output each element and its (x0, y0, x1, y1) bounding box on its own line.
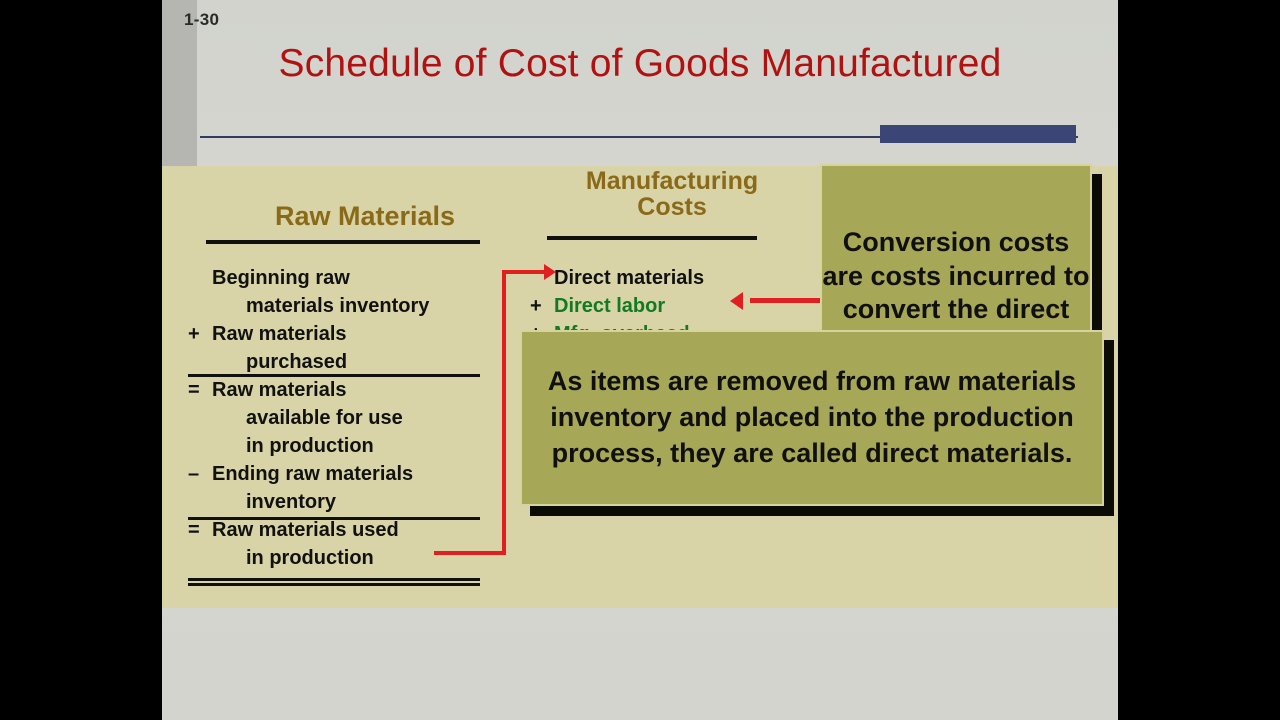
row-label: materials inventory (246, 292, 508, 320)
row-operator: + (188, 320, 208, 348)
list-item: in production (188, 544, 508, 572)
list-item: purchased (188, 348, 508, 376)
row-label: Direct materials (554, 264, 780, 292)
row-label: Direct labor (554, 292, 780, 320)
direct-materials-callout-text: As items are removed from raw materials … (522, 364, 1102, 472)
slide-canvas: 1-30 Schedule of Cost of Goods Manufactu… (162, 0, 1118, 720)
arrow-right-icon-segment-bottom (434, 551, 506, 555)
arrow-right-icon (544, 264, 556, 280)
manufacturing-costs-heading: Manufacturing Costs (537, 168, 807, 221)
list-item: available for use (188, 404, 508, 432)
list-item: Beginning raw (188, 264, 508, 292)
list-item: = Raw materials (188, 376, 508, 404)
raw-materials-list: Beginning raw materials inventory + Raw … (188, 264, 508, 572)
manufacturing-costs-heading-rule (547, 236, 757, 240)
arrow-right-icon-segment-top (502, 270, 547, 274)
list-item: in production (188, 432, 508, 460)
raw-materials-heading: Raw Materials (220, 202, 510, 230)
row-label: purchased (246, 348, 508, 376)
raw-materials-total-rule (188, 578, 480, 581)
list-item: Direct materials (530, 264, 780, 292)
row-label: in production (246, 432, 508, 460)
row-label: Raw materials used (212, 516, 508, 544)
manufacturing-costs-heading-line1: Manufacturing (537, 168, 807, 194)
row-operator: + (530, 292, 550, 320)
arrow-right-icon-segment-vertical (502, 270, 506, 555)
raw-materials-subtotal-rule-2 (188, 517, 480, 520)
list-item: inventory (188, 488, 508, 516)
arrow-left-icon (730, 292, 743, 310)
page-title: Schedule of Cost of Goods Manufactured (162, 42, 1118, 86)
row-operator: = (188, 376, 208, 404)
raw-materials-subtotal-rule-1 (188, 374, 480, 377)
slide-number: 1-30 (184, 10, 219, 30)
title-rule-block (880, 125, 1076, 143)
manufacturing-costs-heading-line2: Costs (537, 194, 807, 220)
raw-materials-heading-rule (206, 240, 480, 244)
list-item: + Raw materials (188, 320, 508, 348)
screen: 1-30 Schedule of Cost of Goods Manufactu… (0, 0, 1280, 720)
row-operator: = (188, 516, 208, 544)
row-label: available for use (246, 404, 508, 432)
row-label: Raw materials (212, 376, 508, 404)
row-label: in production (246, 544, 508, 572)
row-label: Raw materials (212, 320, 508, 348)
row-label: inventory (246, 488, 508, 516)
list-item: = Raw materials used (188, 516, 508, 544)
list-item: – Ending raw materials (188, 460, 508, 488)
direct-materials-callout: As items are removed from raw materials … (520, 330, 1104, 506)
row-operator: – (188, 460, 208, 488)
list-item: materials inventory (188, 292, 508, 320)
row-label: Ending raw materials (212, 460, 508, 488)
row-label: Beginning raw (212, 264, 508, 292)
